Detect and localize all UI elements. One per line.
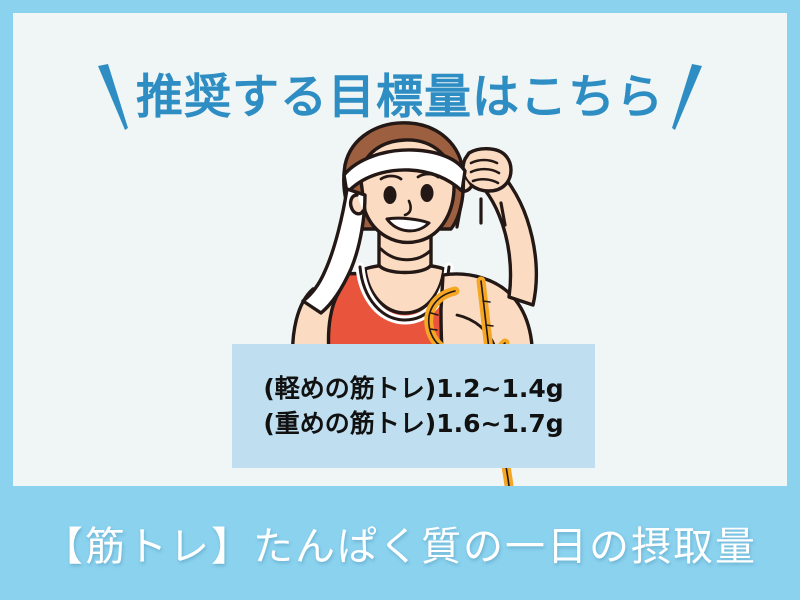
slide-root: 推奨する目標量はこちら (軽めの筋トレ)1.2~1.4g (重めの筋トレ)1.6… xyxy=(0,0,800,600)
info-line-light-training: (軽めの筋トレ)1.2~1.4g xyxy=(263,373,563,405)
eye-right xyxy=(421,184,434,202)
caption-bar: 【筋トレ】たんぱく質の一日の摂取量 xyxy=(0,486,800,600)
info-line-heavy-training: (重めの筋トレ)1.6~1.7g xyxy=(263,408,563,440)
eye-left xyxy=(384,186,397,204)
caption-text: 【筋トレ】たんぱく質の一日の摂取量 xyxy=(43,514,757,572)
recommendation-box: (軽めの筋トレ)1.2~1.4g (重めの筋トレ)1.6~1.7g xyxy=(232,344,595,468)
content-panel: 推奨する目標量はこちら (軽めの筋トレ)1.2~1.4g (重めの筋トレ)1.6… xyxy=(13,13,787,486)
